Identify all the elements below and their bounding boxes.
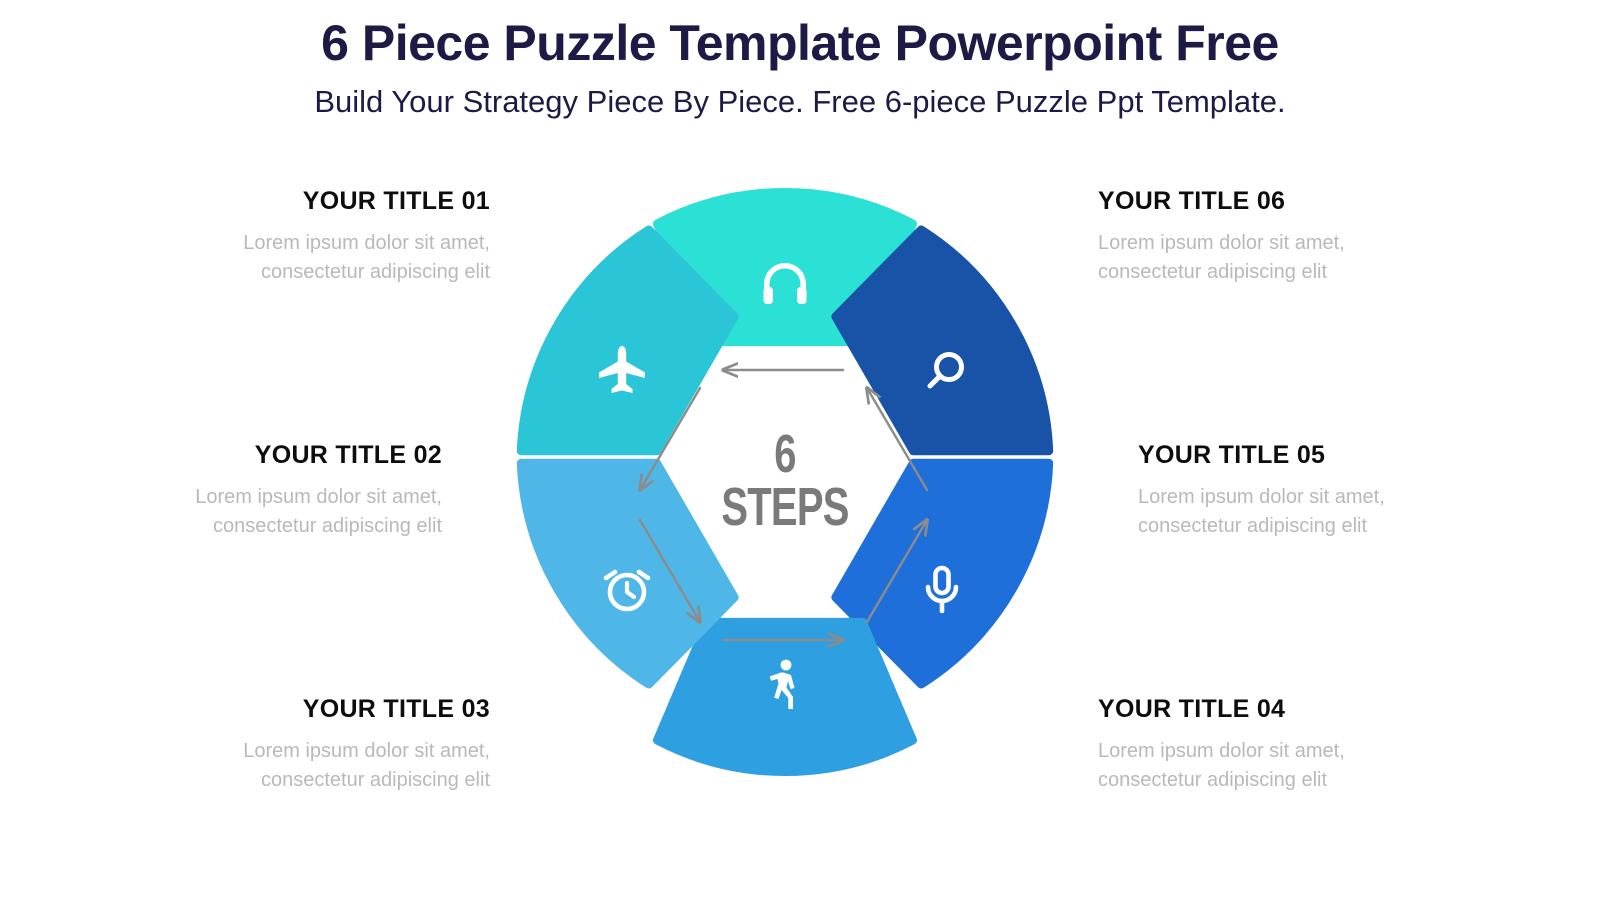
puzzle-wheel-diagram: 6 STEPS: [455, 170, 1115, 820]
callout-title-04: YOUR TITLE 04: [1098, 696, 1428, 724]
callout-desc-04-line1: Lorem ipsum dolor sit amet,: [1098, 740, 1345, 762]
callout-title-02: YOUR TITLE 02: [112, 442, 442, 470]
callout-segment-03: YOUR TITLE 03 Lorem ipsum dolor sit amet…: [160, 696, 490, 795]
callout-title-06: YOUR TITLE 06: [1098, 188, 1428, 216]
page-subtitle: Build Your Strategy Piece By Piece. Free…: [0, 73, 1600, 120]
callout-desc-05-line2: consectetur adipiscing elit: [1138, 515, 1367, 537]
callout-desc-03-line2: consectetur adipiscing elit: [261, 769, 490, 791]
callout-desc-02: Lorem ipsum dolor sit amet,consectetur a…: [112, 470, 442, 541]
callout-desc-05: Lorem ipsum dolor sit amet,consectetur a…: [1138, 470, 1468, 541]
callout-desc-03-line1: Lorem ipsum dolor sit amet,: [243, 740, 490, 762]
callout-desc-04-line2: consectetur adipiscing elit: [1098, 769, 1327, 791]
callout-desc-06-line1: Lorem ipsum dolor sit amet,: [1098, 232, 1345, 254]
segment-04[interactable]: [658, 622, 913, 771]
callout-segment-05: YOUR TITLE 05 Lorem ipsum dolor sit amet…: [1138, 442, 1468, 541]
callout-desc-05-line1: Lorem ipsum dolor sit amet,: [1138, 486, 1385, 508]
callout-desc-02-line2: consectetur adipiscing elit: [213, 515, 442, 537]
callout-segment-01: YOUR TITLE 01 Lorem ipsum dolor sit amet…: [160, 188, 490, 287]
callout-segment-06: YOUR TITLE 06 Lorem ipsum dolor sit amet…: [1098, 188, 1428, 287]
callout-desc-01: Lorem ipsum dolor sit amet,consectetur a…: [160, 216, 490, 287]
header: 6 Piece Puzzle Template Powerpoint Free …: [0, 0, 1600, 120]
callout-segment-04: YOUR TITLE 04 Lorem ipsum dolor sit amet…: [1098, 696, 1428, 795]
callout-desc-02-line1: Lorem ipsum dolor sit amet,: [195, 486, 442, 508]
callout-desc-03: Lorem ipsum dolor sit amet,consectetur a…: [160, 724, 490, 795]
callout-title-05: YOUR TITLE 05: [1138, 442, 1468, 470]
center-label: STEPS: [721, 477, 848, 537]
page-title: 6 Piece Puzzle Template Powerpoint Free: [0, 0, 1600, 73]
center-number: 6: [774, 424, 795, 484]
callout-desc-01-line2: consectetur adipiscing elit: [261, 261, 490, 283]
callout-title-01: YOUR TITLE 01: [160, 188, 490, 216]
segment-04-shape[interactable]: [658, 622, 913, 771]
callout-desc-01-line1: Lorem ipsum dolor sit amet,: [243, 232, 490, 254]
callout-title-03: YOUR TITLE 03: [160, 696, 490, 724]
callout-desc-06-line2: consectetur adipiscing elit: [1098, 261, 1327, 283]
callout-desc-04: Lorem ipsum dolor sit amet,consectetur a…: [1098, 724, 1428, 795]
callout-segment-02: YOUR TITLE 02 Lorem ipsum dolor sit amet…: [112, 442, 442, 541]
callout-desc-06: Lorem ipsum dolor sit amet,consectetur a…: [1098, 216, 1428, 287]
